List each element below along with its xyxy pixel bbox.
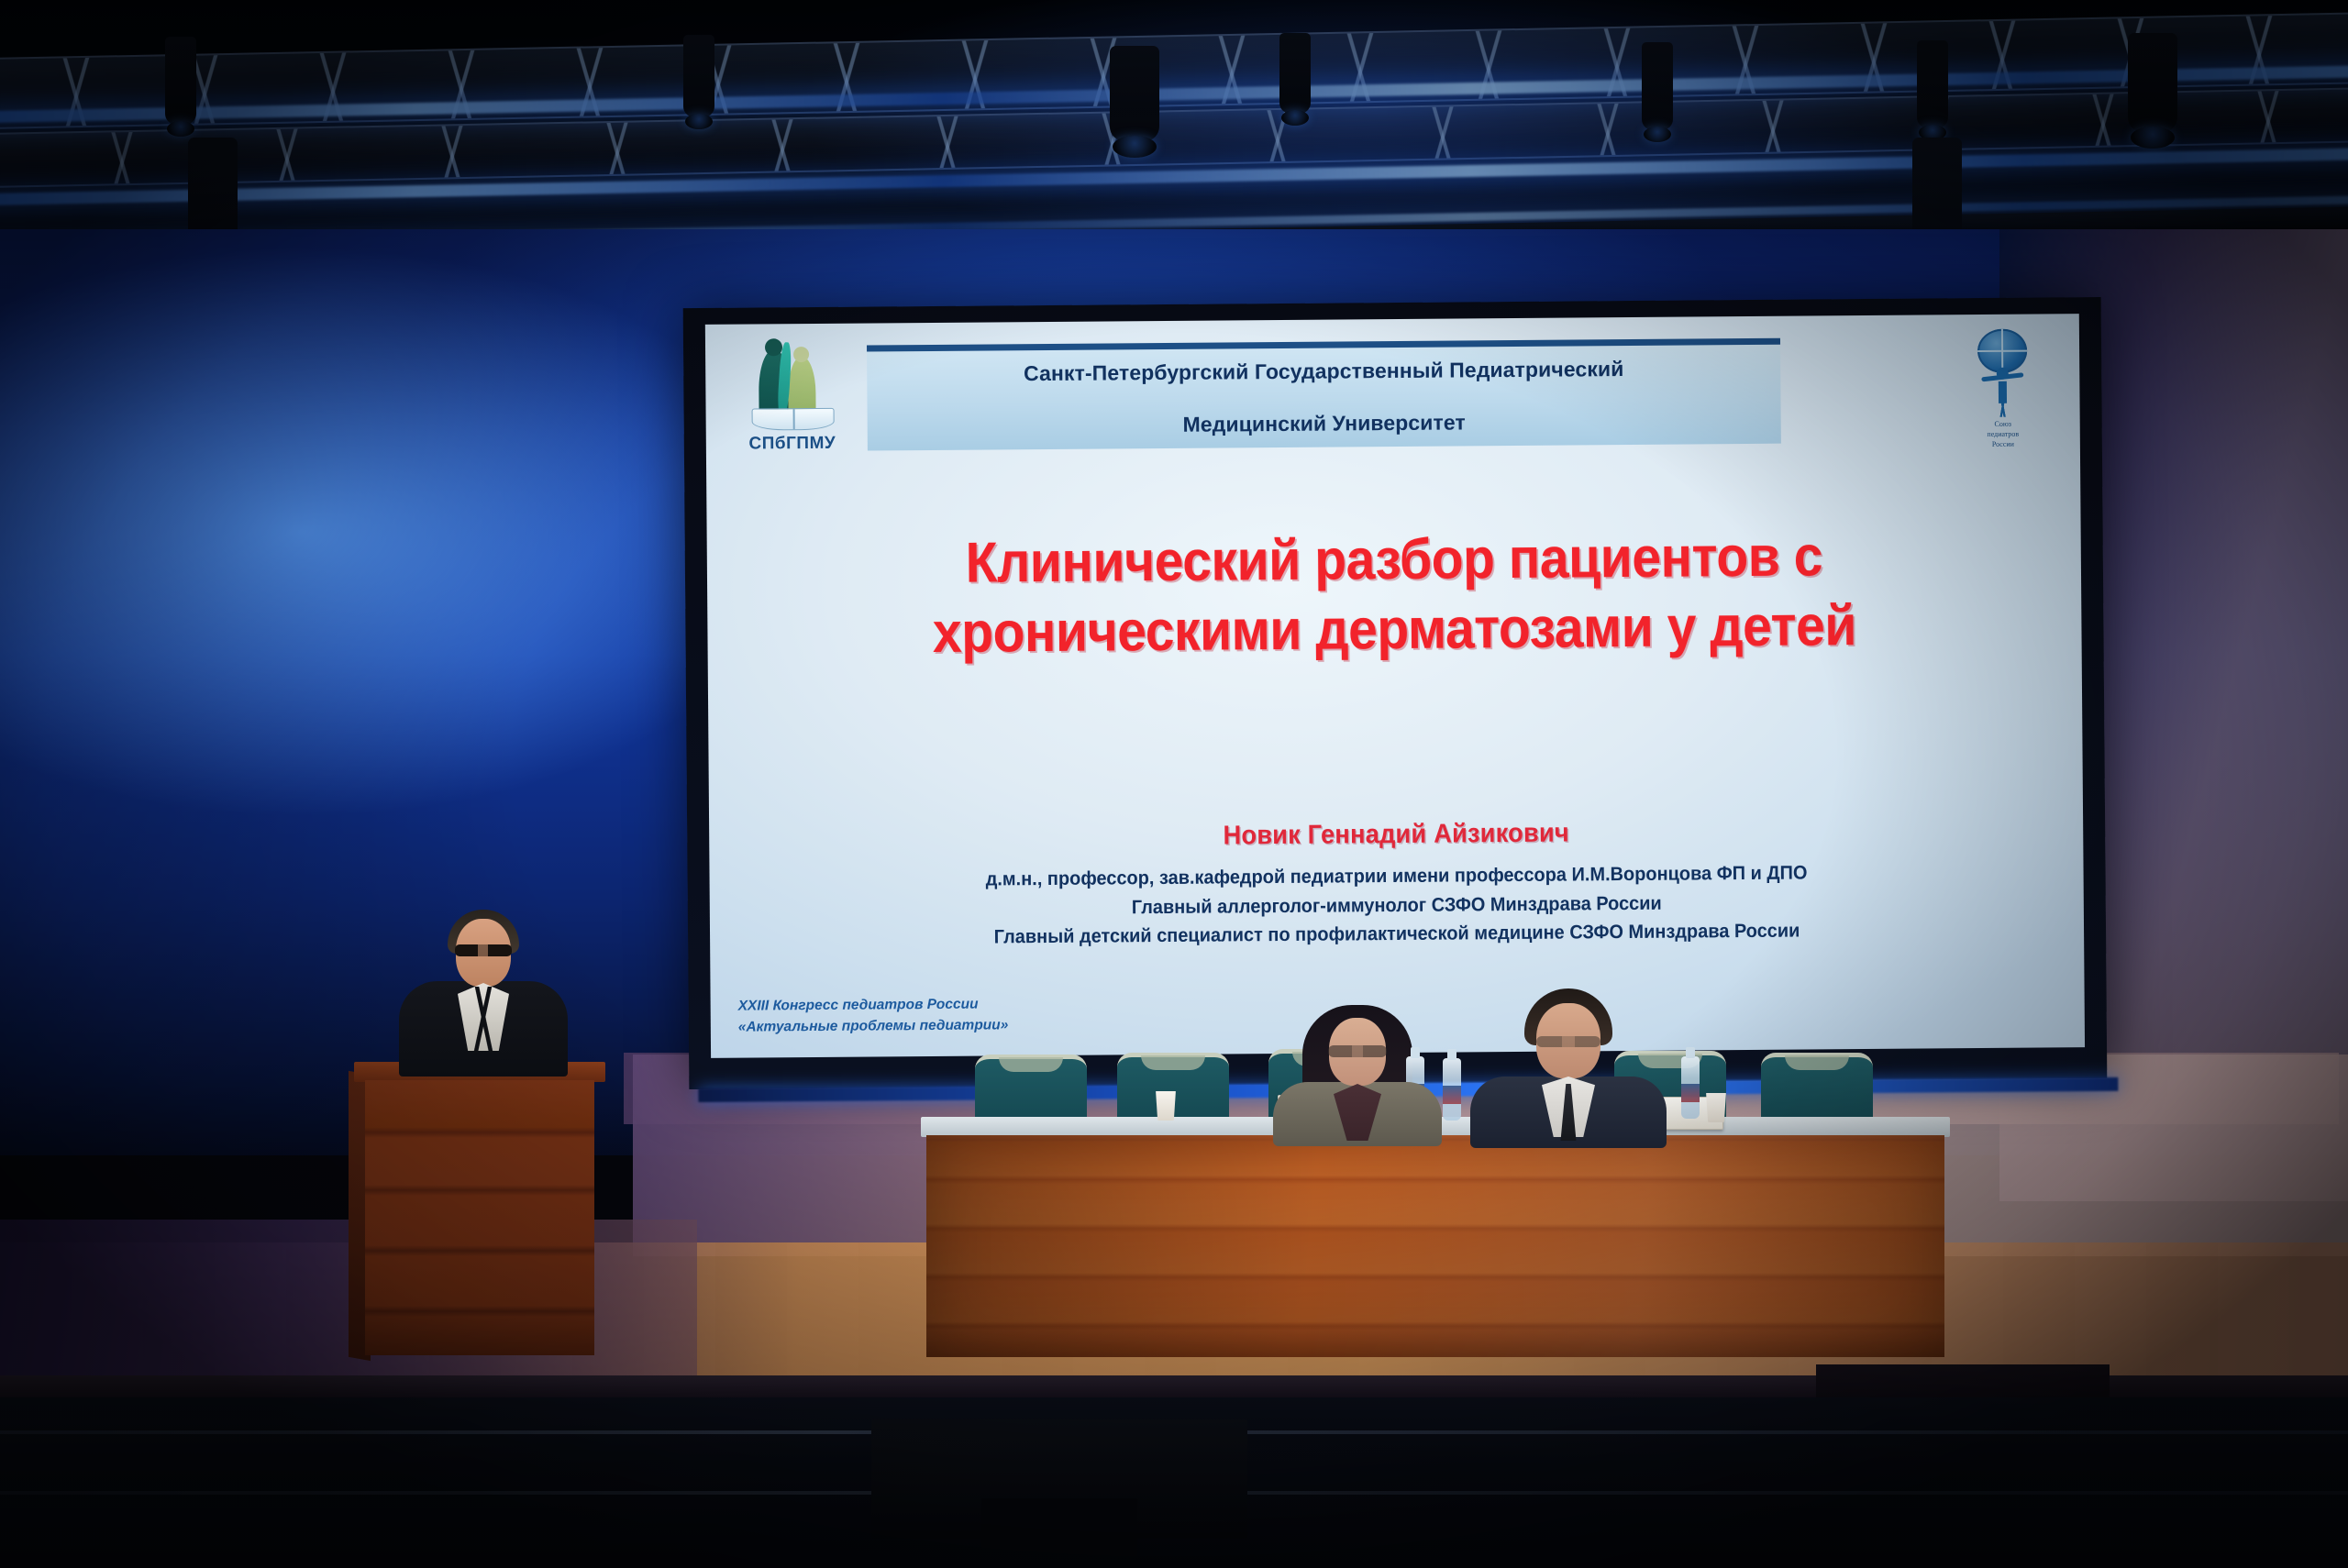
stage-light-icon [1917,40,1948,128]
slide-title-line-2: хроническими дерматозами у детей [813,591,1976,669]
presidium-table [926,1117,1944,1357]
water-bottle [1681,1056,1700,1119]
stage-light-icon [165,37,196,125]
table-lighting-shadow [926,1135,1944,1357]
glasses-icon [455,944,512,956]
slide-title-line-1: Клинический разбор пациентов с [813,521,1976,600]
stage-light-icon [683,35,714,117]
stage-photo-scene: СПбГПМУ Санкт-Петербургский Государствен… [0,0,2348,1568]
glasses-icon [1536,1036,1600,1047]
slide-footer: XXIII Конгресс педиатров России «Актуаль… [738,994,1009,1037]
slide-footer-line-2: «Актуальные проблемы педиатрии» [738,1015,1009,1038]
congress-logo: Союз педиатров России [1956,328,2049,454]
person-figure-icon [1981,368,2023,417]
organization-header-band: Санкт-Петербургский Государственный Педи… [867,338,1781,451]
slide-title: Клинический разбор пациентов с хроническ… [813,521,1977,668]
stage-light-icon [1110,46,1159,141]
author-name: Новик Геннадий Айзикович [802,815,1990,855]
caduceus-figures-icon [748,348,836,433]
lectern [365,1062,594,1355]
paper-cup [1154,1091,1178,1121]
open-book-icon [752,408,835,431]
presenter-at-lectern [396,910,570,1075]
lectern-front-panels [365,1080,594,1355]
organization-header-text: Санкт-Петербургский Государственный Педи… [1024,356,1624,439]
slide-header: СПбГПМУ Санкт-Петербургский Государствен… [729,326,2056,458]
water-bottle [1443,1058,1461,1121]
lanyard-icon [460,987,506,1053]
university-abbreviation: СПбГПМУ [748,434,836,455]
glasses-icon [1328,1045,1387,1057]
stage-light-icon [2128,33,2177,132]
projection-screen: СПбГПМУ Санкт-Петербургский Государствен… [683,297,2108,1089]
author-credentials: д.м.н., профессор, зав.кафедрой педиатри… [779,857,2015,954]
stage-monitor-speaker [871,1419,1247,1539]
presentation-slide: СПбГПМУ Санкт-Петербургский Государствен… [705,314,2085,1058]
paper-cup [1704,1093,1728,1122]
congress-cap-line-2: педиатров [1987,429,2019,437]
org-header-line-2: Медицинский Университет [1024,408,1623,439]
slide-footer-line-1: XXIII Конгресс педиатров России [738,994,1009,1017]
congress-cap-line-3: России [1992,439,2014,447]
stage-light-icon [1642,42,1673,130]
stage-light-icon [1279,33,1311,114]
org-header-line-1: Санкт-Петербургский Государственный Педи… [1024,356,1623,387]
congress-logo-caption: Союз педиатров России [1987,420,2019,450]
panelist-man [1467,988,1669,1146]
congress-cap-line-1: Союз [1994,420,2011,428]
university-logo: СПбГПМУ [737,338,847,455]
